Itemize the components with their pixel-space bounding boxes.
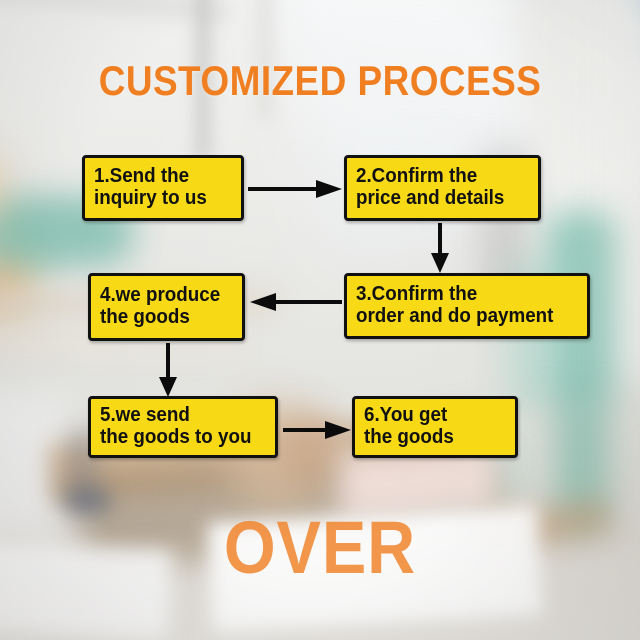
- flow-step-6-line1: 6.You get: [364, 404, 498, 426]
- arrow-down-icon-step2-to-step3: [431, 223, 449, 273]
- page-title: CUSTOMIZED PROCESS: [38, 57, 601, 105]
- arrow-right-icon-step1-to-step2: [248, 180, 342, 198]
- arrow-right-icon-step5-to-step6: [283, 421, 353, 439]
- flow-step-2-line2: price and details: [356, 187, 520, 209]
- flow-step-4[interactable]: 4.we produce the goods: [88, 273, 245, 341]
- flow-step-1[interactable]: 1.Send the inquiry to us: [82, 155, 244, 221]
- footer-text: OVER: [32, 505, 608, 590]
- flow-step-4-line1: 4.we produce: [100, 284, 226, 306]
- flow-step-6-line2: the goods: [364, 426, 498, 448]
- flow-step-6[interactable]: 6.You get the goods: [352, 396, 518, 458]
- flow-step-2-line1: 2.Confirm the: [356, 165, 520, 187]
- flow-step-4-line2: the goods: [100, 306, 226, 328]
- poster-canvas: CUSTOMIZED PROCESS 1.Send the inquiry to…: [0, 0, 640, 640]
- flow-step-3-line1: 3.Confirm the: [356, 283, 566, 305]
- flow-step-1-line1: 1.Send the: [94, 165, 225, 187]
- flow-step-5-line1: 5.we send: [100, 404, 257, 426]
- flow-step-1-line2: inquiry to us: [94, 187, 225, 209]
- flow-step-2[interactable]: 2.Confirm the price and details: [344, 155, 541, 221]
- flow-step-5[interactable]: 5.we send the goods to you: [88, 396, 278, 458]
- arrow-left-icon-step3-to-step4: [250, 293, 342, 311]
- flow-step-3-line2: order and do payment: [356, 305, 566, 327]
- arrow-down-icon-step4-to-step5: [159, 343, 177, 398]
- flow-step-3[interactable]: 3.Confirm the order and do payment: [344, 273, 590, 339]
- flowchart-content: CUSTOMIZED PROCESS 1.Send the inquiry to…: [0, 0, 640, 640]
- flow-step-5-line2: the goods to you: [100, 426, 257, 448]
